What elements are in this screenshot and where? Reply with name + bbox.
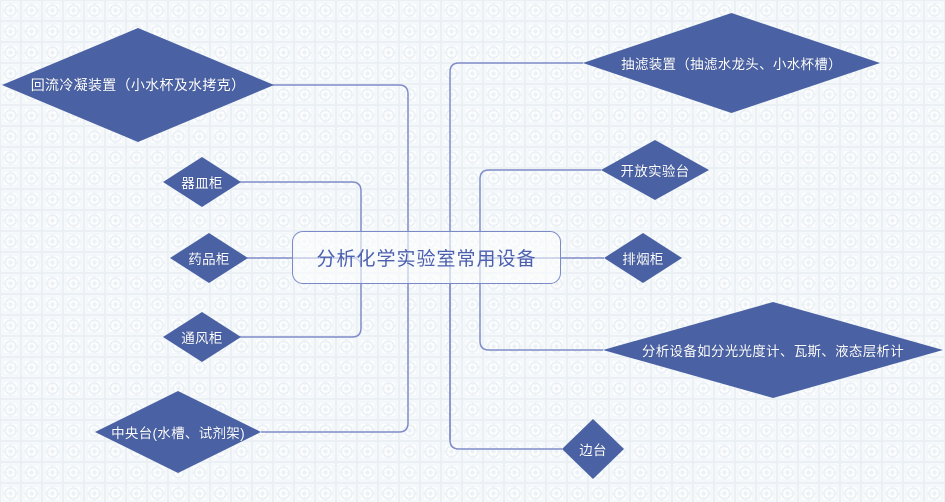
node-n4[interactable]: 开放实验台 — [601, 140, 709, 200]
node-n3[interactable]: 器皿柜 — [163, 157, 241, 207]
node-n4-label: 开放实验台 — [621, 160, 690, 180]
node-n7-label: 通风柜 — [181, 327, 222, 347]
center-node[interactable]: 分析化学实验室常用设备 — [292, 231, 561, 284]
node-n10-label: 边台 — [579, 439, 607, 459]
node-n10[interactable]: 边台 — [562, 419, 624, 479]
node-n2-label: 抽滤装置（抽滤水龙头、小水杯槽） — [621, 53, 842, 73]
node-n5[interactable]: 药品柜 — [170, 233, 248, 283]
node-n7[interactable]: 通风柜 — [163, 312, 241, 362]
node-n1[interactable]: 回流冷凝装置（小水杯及水拷克） — [2, 28, 274, 142]
node-n8[interactable]: 分析设备如分光光度计、瓦斯、液态层析计 — [603, 302, 943, 398]
node-n3-label: 器皿柜 — [181, 172, 222, 192]
center-node-label: 分析化学实验室常用设备 — [316, 244, 536, 271]
node-n6[interactable]: 排烟柜 — [604, 233, 682, 283]
node-n9-label: 中央台(水槽、试剂架) — [111, 422, 245, 442]
node-n5-label: 药品柜 — [188, 248, 229, 268]
node-n1-label: 回流冷凝装置（小水杯及水拷克） — [31, 75, 246, 95]
node-n9[interactable]: 中央台(水槽、试剂架) — [95, 391, 261, 473]
node-n6-label: 排烟柜 — [622, 248, 663, 268]
diagram-canvas: 分析化学实验室常用设备 回流冷凝装置（小水杯及水拷克） 抽滤装置（抽滤水龙头、小… — [0, 0, 945, 502]
node-layer: 分析化学实验室常用设备 回流冷凝装置（小水杯及水拷克） 抽滤装置（抽滤水龙头、小… — [0, 0, 945, 502]
node-n8-label: 分析设备如分光光度计、瓦斯、液态层析计 — [642, 340, 904, 360]
node-n2[interactable]: 抽滤装置（抽滤水龙头、小水杯槽） — [583, 13, 880, 113]
